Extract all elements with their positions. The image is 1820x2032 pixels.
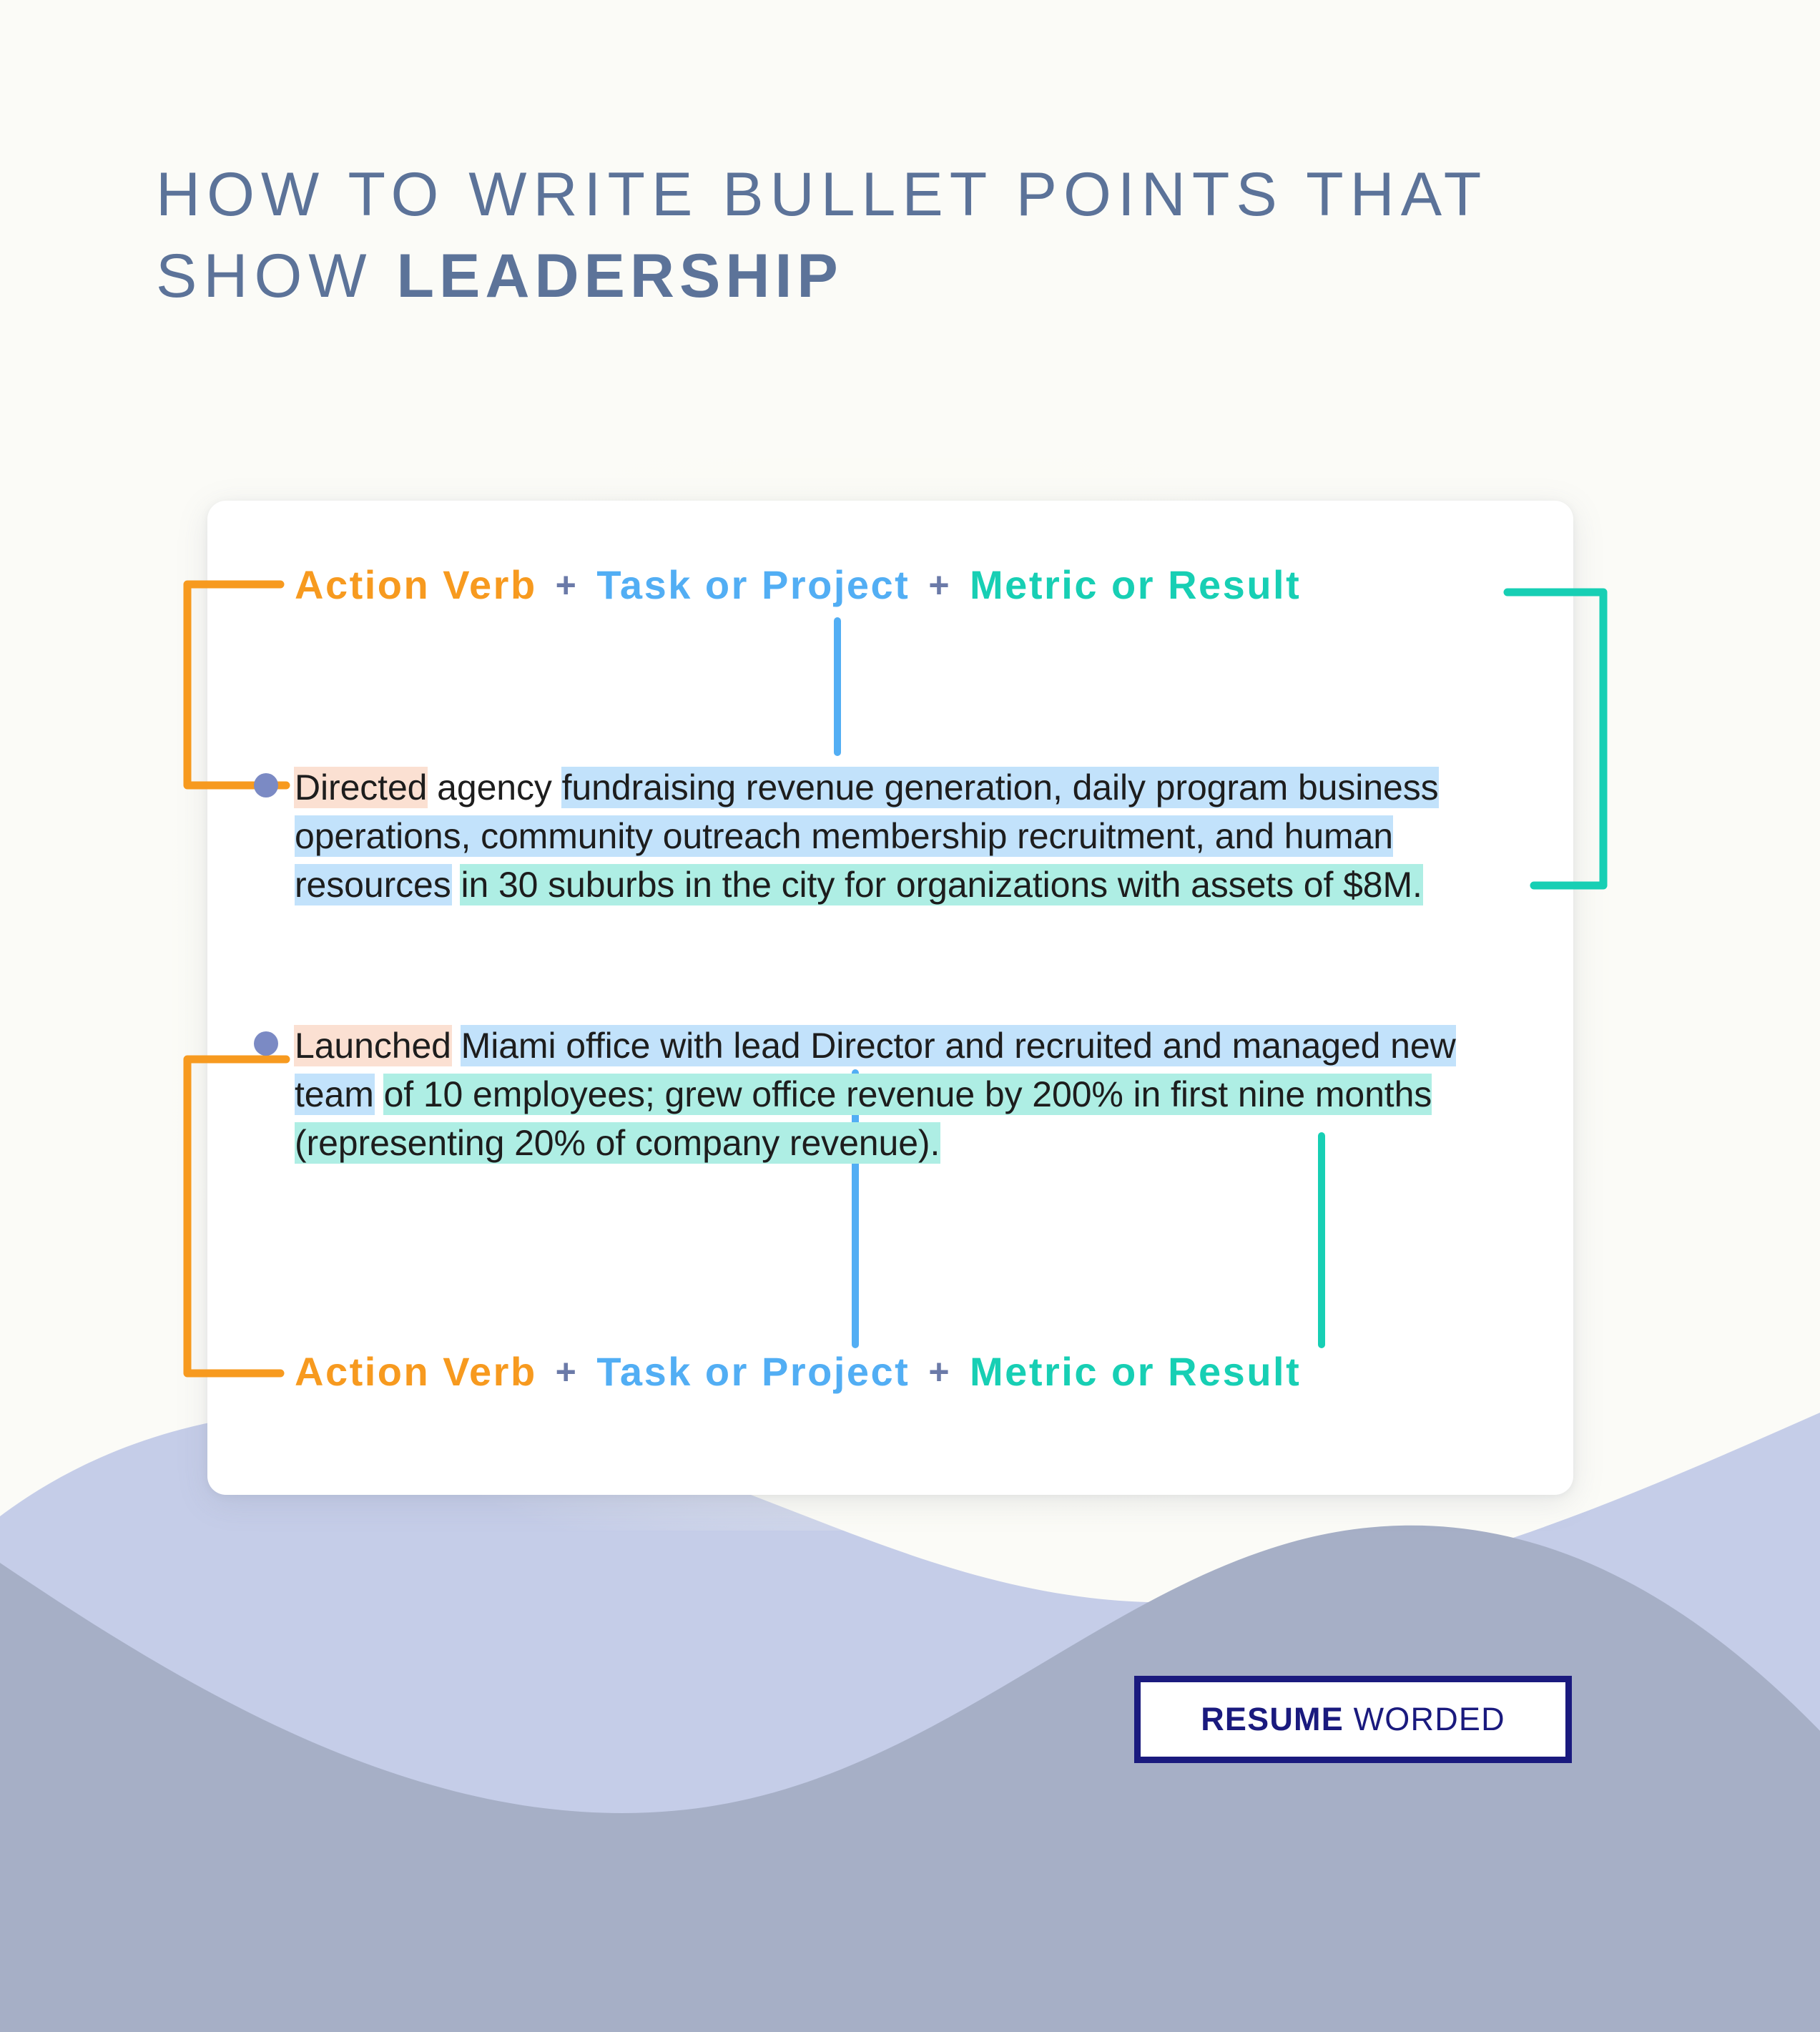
legend-task-or-project-bottom: Task or Project xyxy=(596,1348,910,1395)
bullet-1-metric: in 30 suburbs in the city for organizati… xyxy=(461,865,1422,905)
legend-metric-or-result-bottom: Metric or Result xyxy=(970,1348,1301,1395)
bullet-1-plain-text: agency xyxy=(427,767,561,808)
legend-action-verb-top: Action Verb xyxy=(295,561,537,608)
legend-task-or-project-top: Task or Project xyxy=(596,561,910,608)
legend-plus-2-bottom: + xyxy=(928,1351,951,1393)
bullet-1-spacer xyxy=(451,865,461,905)
page-title: HOW TO WRITE BULLET POINTS THAT SHOW LEA… xyxy=(156,154,1586,318)
bullet-1-action-verb: Directed xyxy=(295,767,427,808)
bullet-marker-2 xyxy=(254,1031,278,1056)
page-title-line-2-prefix: SHOW xyxy=(156,242,396,310)
logo-word-resume: RESUME xyxy=(1201,1701,1344,1737)
logo-text: RESUME WORDED xyxy=(1201,1701,1505,1738)
legend-action-verb-bottom: Action Verb xyxy=(295,1348,537,1395)
legend-plus-1-bottom: + xyxy=(556,1351,579,1393)
bullet-2-metric: of 10 employees; grew office revenue by … xyxy=(295,1074,1432,1163)
bullet-point-1: Directed agency fundraising revenue gene… xyxy=(295,763,1539,909)
bullet-2-plain-text xyxy=(451,1026,461,1066)
bullet-point-2: Launched Miami office with lead Director… xyxy=(295,1021,1539,1167)
bullet-2-spacer xyxy=(374,1074,384,1114)
content-card xyxy=(207,501,1573,1495)
legend-row-bottom: Action Verb + Task or Project + Metric o… xyxy=(295,1348,1301,1395)
legend-plus-2-top: + xyxy=(928,564,951,606)
legend-metric-or-result-top: Metric or Result xyxy=(970,561,1301,608)
legend-plus-1-top: + xyxy=(556,564,579,606)
resume-worded-logo: RESUME WORDED xyxy=(1134,1676,1572,1763)
legend-row-top: Action Verb + Task or Project + Metric o… xyxy=(295,561,1301,608)
bullet-marker-1 xyxy=(254,773,278,797)
page-title-line-1: HOW TO WRITE BULLET POINTS THAT xyxy=(156,160,1487,229)
logo-word-worded: WORDED xyxy=(1344,1701,1505,1737)
page-title-highlight-word: LEADERSHIP xyxy=(396,242,842,310)
bullet-2-action-verb: Launched xyxy=(295,1026,451,1066)
